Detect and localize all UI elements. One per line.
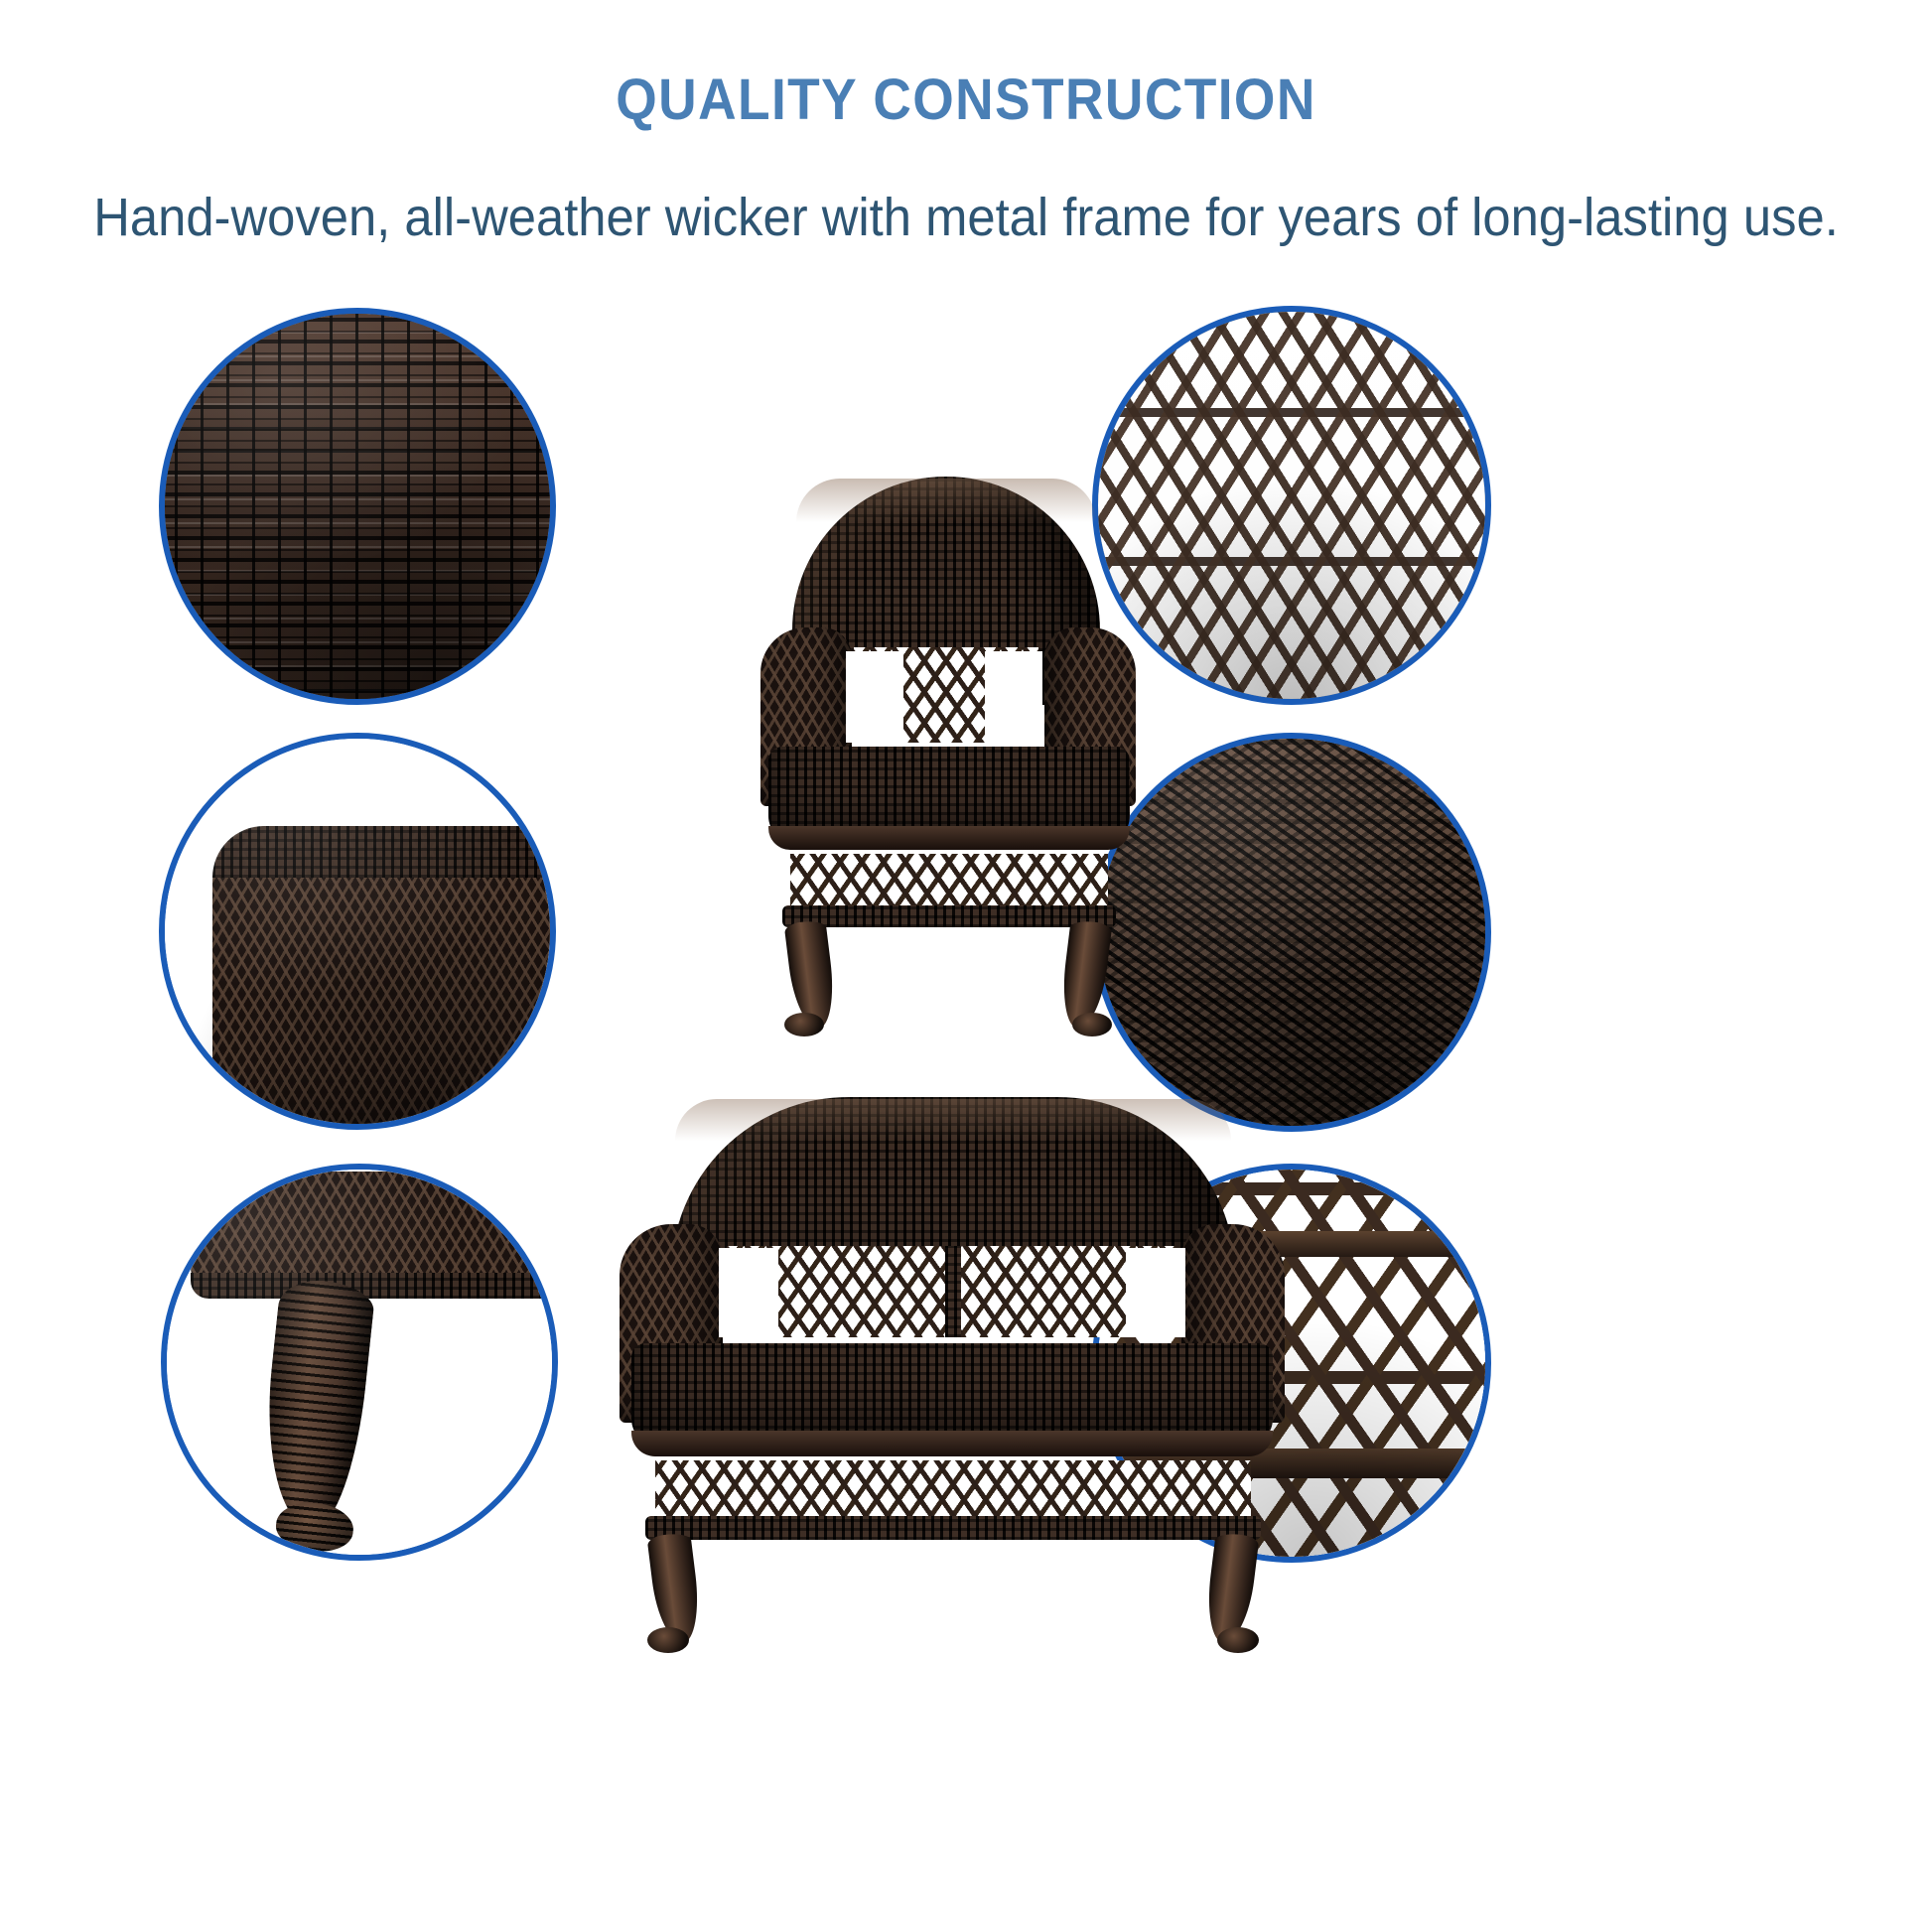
armchair-apron-lattice <box>790 854 1108 911</box>
loveseat-apron-rail <box>645 1516 1261 1540</box>
armchair-seat-front-edge <box>768 826 1130 850</box>
product-armchair <box>735 477 1162 1033</box>
armchair-back-top-rail <box>796 479 1096 522</box>
loveseat-foot-left <box>647 1627 689 1653</box>
page-subtitle: Hand-woven, all-weather wicker with meta… <box>58 189 1873 247</box>
loveseat-apron-lattice <box>655 1460 1251 1522</box>
callout-bottom-left <box>161 1164 558 1561</box>
armchair-right-gap <box>985 651 1042 743</box>
header: QUALITY CONSTRUCTION Hand-woven, all-wea… <box>0 0 1932 247</box>
armchair-foot-left <box>784 1013 824 1036</box>
leg-foot-cap <box>274 1500 356 1556</box>
product-loveseat <box>596 1097 1311 1653</box>
armchair-left-gap <box>846 651 903 743</box>
loveseat-lattice-divider <box>945 1246 961 1337</box>
loveseat-foot-right <box>1217 1627 1259 1653</box>
weave-texture-basket <box>159 308 556 705</box>
callout-mid-left <box>159 733 556 1130</box>
leg-detail <box>161 1164 558 1561</box>
seat-rail-edge <box>191 1273 558 1299</box>
armrest-corner-detail <box>159 733 556 1130</box>
armchair-apron-rail <box>782 905 1116 927</box>
callout-top-left <box>159 308 556 705</box>
loveseat-seat-front-edge <box>631 1431 1273 1456</box>
armchair-foot-right <box>1072 1013 1112 1036</box>
wicker-leg <box>256 1277 377 1534</box>
page-title: QUALITY CONSTRUCTION <box>77 71 1855 129</box>
armrest-top-rail <box>212 826 556 878</box>
loveseat-back-top-rail <box>675 1099 1231 1141</box>
loveseat-right-gap <box>1126 1248 1185 1337</box>
infographic-page: QUALITY CONSTRUCTION Hand-woven, all-wea… <box>0 0 1932 1932</box>
loveseat-left-gap <box>719 1248 778 1337</box>
